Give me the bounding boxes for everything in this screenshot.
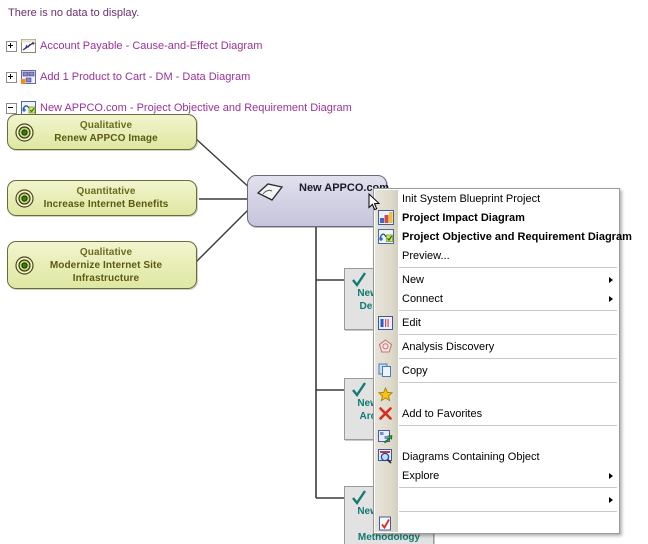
menu-item-explore[interactable]: Diagrams Containing Object <box>374 447 619 466</box>
explore-icon <box>374 447 397 466</box>
menu-item-icon-slot <box>374 270 397 289</box>
check-icon <box>351 490 367 511</box>
menu-item-label: Diagrams Containing Object <box>397 451 540 463</box>
menu-item-label: Add to Favorites <box>397 408 482 420</box>
submenu-arrow-icon <box>609 497 613 503</box>
diagrams-containing-object-icon <box>374 428 397 447</box>
submenu-arrow-icon <box>609 296 613 302</box>
edit-icon <box>374 313 397 332</box>
menu-item-label: Project Impact Diagram <box>397 212 525 224</box>
submenu-arrow-icon <box>609 473 613 479</box>
context-menu[interactable]: Init System Blueprint Project Project Im… <box>373 188 620 534</box>
menu-item-label: Connect <box>397 293 443 305</box>
menu-item-icon-slot <box>374 466 397 485</box>
menu-item-analysis-discovery[interactable]: Analysis Discovery <box>374 337 619 356</box>
copy-icon <box>374 361 397 380</box>
menu-item-label: Explore <box>397 470 439 482</box>
menu-item-project-objective-and-requirement-diagram[interactable]: Project Objective and Requirement Diagra… <box>374 227 619 246</box>
menu-separator <box>399 334 617 335</box>
menu-item-init-system-blueprint-project[interactable]: Init System Blueprint Project <box>374 189 619 208</box>
menu-item-check[interactable]: Explore <box>374 466 619 485</box>
objective-name: Increase Internet Benefits <box>34 198 178 211</box>
objective-node[interactable]: Qualitative Modernize Internet Site Infr… <box>7 241 197 289</box>
status-text: There is no data to display. <box>8 7 139 19</box>
objective-bullet-icon <box>15 123 34 142</box>
menu-item-diagrams-containing-object[interactable] <box>374 428 619 447</box>
properties-icon <box>374 514 397 533</box>
submenu-arrow-icon <box>609 277 613 283</box>
menu-item-properties[interactable] <box>374 514 619 533</box>
objective-node[interactable]: Qualitative Renew APPCO Image <box>7 114 197 150</box>
menu-item-connect[interactable]: Connect <box>374 289 619 308</box>
menu-item-manage[interactable] <box>374 490 619 509</box>
tree-item-add-product-to-cart[interactable]: Add 1 Product to Cart - DM - Data Diagra… <box>6 70 250 84</box>
menu-separator <box>399 358 617 359</box>
data-diagram-icon <box>21 70 36 84</box>
objective-node-text: Qualitative Renew APPCO Image <box>34 119 196 145</box>
project-objective-requirement-diagram-icon <box>374 227 397 246</box>
menu-item-delete[interactable]: Add to Favorites <box>374 404 619 423</box>
menu-item-add-to-favorites[interactable] <box>374 385 619 404</box>
objective-bullet-icon <box>15 189 34 208</box>
menu-item-label: Preview... <box>397 250 450 262</box>
menu-item-icon-slot <box>374 289 397 308</box>
delete-icon <box>374 404 397 423</box>
menu-separator <box>399 425 617 426</box>
expander-icon[interactable] <box>6 72 17 83</box>
menu-item-new[interactable]: New <box>374 270 619 289</box>
menu-separator <box>399 310 617 311</box>
expander-icon[interactable] <box>6 41 17 52</box>
menu-item-preview[interactable]: Preview... <box>374 246 619 265</box>
tree-item-label: Add 1 Product to Cart - DM - Data Diagra… <box>40 71 250 83</box>
objective-node-text: Quantitative Increase Internet Benefits <box>34 185 196 211</box>
objective-name: Modernize Internet Site Infrastructure <box>34 259 178 285</box>
mouse-cursor-icon <box>368 193 381 217</box>
menu-separator <box>399 511 617 512</box>
project-center-node[interactable]: New APPCO.com <box>247 175 387 227</box>
menu-item-copy[interactable]: Copy <box>374 361 619 380</box>
tree-item-label: Account Payable - Cause-and-Effect Diagr… <box>40 40 262 52</box>
menu-item-label: New <box>397 274 424 286</box>
check-icon <box>351 272 367 293</box>
menu-item-icon-slot <box>374 246 397 265</box>
objective-bullet-icon <box>15 256 34 275</box>
objective-node-text: Qualitative Modernize Internet Site Infr… <box>34 246 196 285</box>
objective-kind: Quantitative <box>34 185 178 198</box>
project-diamond-icon <box>255 181 285 208</box>
cause-effect-diagram-icon <box>21 39 36 53</box>
objective-name: Renew APPCO Image <box>34 132 178 145</box>
star-icon <box>374 385 397 404</box>
menu-item-label: Edit <box>397 317 421 329</box>
menu-item-edit[interactable]: Edit <box>374 313 619 332</box>
application-window: There is no data to display. Account Pay… <box>0 0 648 544</box>
menu-item-label: Analysis Discovery <box>397 341 494 353</box>
menu-item-label: Copy <box>397 365 428 377</box>
objective-kind: Qualitative <box>34 119 178 132</box>
objective-node[interactable]: Quantitative Increase Internet Benefits <box>7 180 197 216</box>
tree-item-account-payable[interactable]: Account Payable - Cause-and-Effect Diagr… <box>6 39 262 53</box>
menu-item-project-impact-diagram[interactable]: Project Impact Diagram <box>374 208 619 227</box>
analysis-discovery-icon <box>374 337 397 356</box>
menu-item-label: Project Objective and Requirement Diagra… <box>397 231 632 243</box>
objective-kind: Qualitative <box>34 246 178 259</box>
menu-item-icon-slot <box>374 490 397 509</box>
menu-item-label: Init System Blueprint Project <box>397 193 540 205</box>
check-icon <box>351 382 367 403</box>
menu-separator <box>399 382 617 383</box>
menu-separator <box>399 267 617 268</box>
menu-separator <box>399 487 617 488</box>
